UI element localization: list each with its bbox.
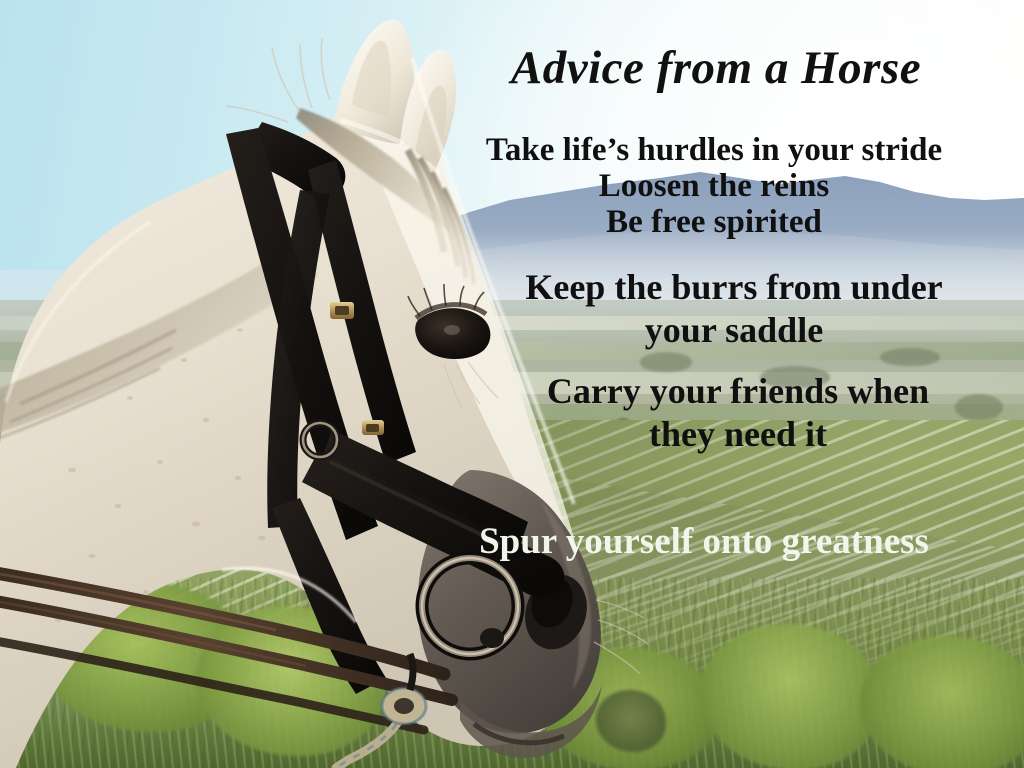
stanza-burrs: Keep the burrs from under your saddle	[444, 266, 1024, 352]
stanza-line: your saddle	[444, 309, 1024, 352]
stanza-line: Take life’s hurdles in your stride	[404, 132, 1024, 168]
stanza-final-line: Spur yourself onto greatness	[384, 521, 1024, 563]
stanza-line: Keep the burrs from under	[444, 266, 1024, 309]
stanza-line: Be free spirited	[404, 204, 1024, 240]
stanza-take-life: Take life’s hurdles in your stride Loose…	[404, 132, 1024, 240]
page-title: Advice from a Horse	[424, 42, 1008, 94]
stanza-friends: Carry your friends when they need it	[452, 370, 1024, 456]
advice-from-a-horse-poster: Advice from a Horse Take life’s hurdles …	[0, 0, 1024, 768]
stanza-line: Loosen the reins	[404, 168, 1024, 204]
stanza-line: Carry your friends when	[452, 370, 1024, 413]
stanza-line: they need it	[452, 413, 1024, 456]
text-overlay: Advice from a Horse Take life’s hurdles …	[0, 0, 1024, 768]
